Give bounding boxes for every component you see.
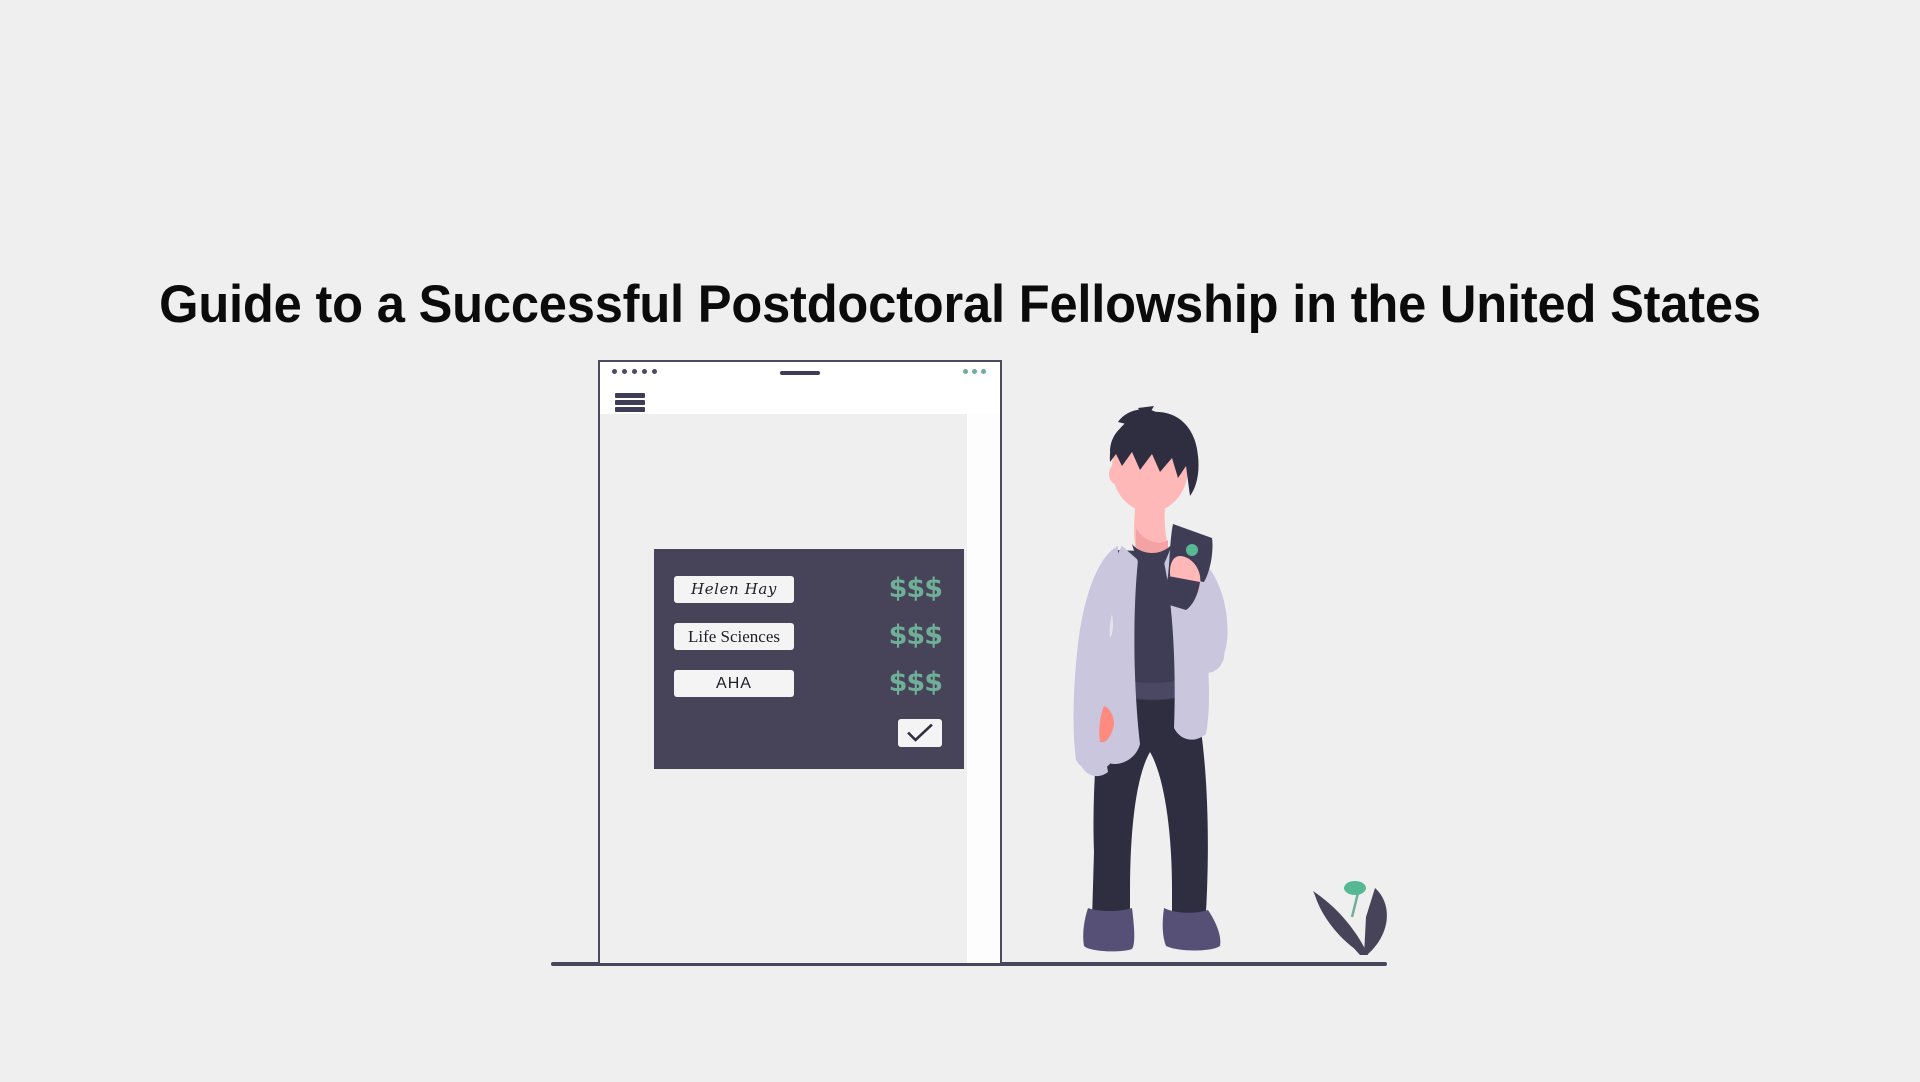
titlebar-right-dots xyxy=(963,369,986,374)
hamburger-line xyxy=(615,393,645,398)
hamburger-line xyxy=(615,407,645,412)
hero-illustration: Helen Hay $$$ Life Sciences $$$ AHA $$$ xyxy=(0,0,1920,1082)
funding-agency-value: AHA xyxy=(716,676,752,692)
titlebar-dot xyxy=(652,369,657,374)
titlebar-dot xyxy=(642,369,647,374)
form-row: Life Sciences $$$ xyxy=(674,623,944,651)
funding-agency-field[interactable]: AHA xyxy=(674,670,794,697)
funding-agency-amount: $$$ xyxy=(889,668,942,698)
hamburger-line xyxy=(615,400,645,405)
research-field-amount: $$$ xyxy=(889,621,942,651)
standing-person-with-phone xyxy=(1040,400,1260,968)
hamburger-menu-icon[interactable] xyxy=(615,393,645,412)
shoe-left xyxy=(1083,908,1134,951)
plant-leaf-left-body xyxy=(1313,891,1368,955)
fellowship-application-card: Helen Hay $$$ Life Sciences $$$ AHA $$$ xyxy=(654,549,964,769)
plant-stem xyxy=(1352,893,1358,917)
phone-camera-dot xyxy=(1186,544,1198,556)
shoe-right xyxy=(1163,908,1221,951)
research-field-field[interactable]: Life Sciences xyxy=(674,623,794,650)
research-field-value: Life Sciences xyxy=(688,628,780,645)
applicant-name-value: Helen Hay xyxy=(691,582,777,597)
form-row: AHA $$$ xyxy=(674,670,944,698)
confirm-button[interactable] xyxy=(898,719,942,747)
form-row: Helen Hay $$$ xyxy=(674,576,944,604)
browser-titlebar xyxy=(600,362,1000,384)
titlebar-status-dot xyxy=(972,369,977,374)
browser-side-strip xyxy=(968,414,1000,963)
titlebar-status-dot xyxy=(963,369,968,374)
checkmark-icon xyxy=(898,719,942,747)
titlebar-address-bar[interactable] xyxy=(780,371,820,375)
potted-plant-sprout xyxy=(1300,855,1420,965)
plant-bud xyxy=(1344,881,1366,895)
titlebar-dot xyxy=(612,369,617,374)
titlebar-dot xyxy=(632,369,637,374)
applicant-name-amount: $$$ xyxy=(889,574,942,604)
ear xyxy=(1109,464,1123,484)
applicant-name-field[interactable]: Helen Hay xyxy=(674,576,794,603)
plant-leaf-right xyxy=(1364,888,1387,955)
titlebar-dot xyxy=(622,369,627,374)
titlebar-status-dot xyxy=(981,369,986,374)
titlebar-left-dots xyxy=(612,369,657,374)
